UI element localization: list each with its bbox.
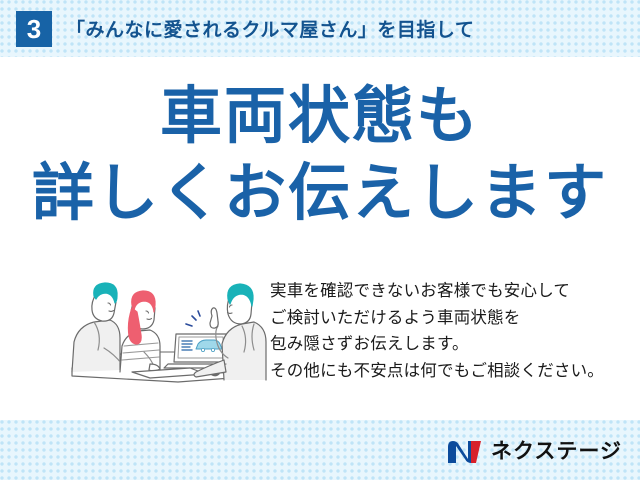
- body-copy: 実車を確認できないお客様でも安心して ご検討いただけるよう車両状態を 包み隠さず…: [270, 272, 640, 385]
- body-line-4: その他にも不安点は何でもご相談ください。: [270, 358, 640, 385]
- headline-line-2: 詳しくお伝えします: [0, 161, 640, 228]
- body-line-1: 実車を確認できないお客様でも安心して: [270, 278, 640, 305]
- illustration-svg: [58, 272, 268, 394]
- advertisement-banner: 3 「みんなに愛されるクルマ屋さん」を目指して 車両状態も 詳しくお伝えします: [0, 0, 640, 480]
- body-line-2: ご検討いただけるよう車両状態を: [270, 305, 640, 332]
- body-line-3: 包み隠さずお伝えします。: [270, 331, 640, 358]
- brand-name: ネクステージ: [491, 439, 622, 465]
- headline: 車両状態も 詳しくお伝えします: [0, 84, 640, 228]
- customer-consultation-illustration: [58, 272, 268, 394]
- header-title: 「みんなに愛されるクルマ屋さん」を目指して: [66, 15, 474, 42]
- brand-logo: ネクステージ: [446, 437, 622, 467]
- step-number-badge: 3: [16, 11, 52, 47]
- nextage-n-logo-icon: [446, 439, 484, 465]
- headline-line-1: 車両状態も: [0, 84, 640, 151]
- content-row: 実車を確認できないお客様でも安心して ご検討いただけるよう車両状態を 包み隠さず…: [0, 272, 640, 402]
- header: 3 「みんなに愛されるクルマ屋さん」を目指して: [0, 0, 640, 57]
